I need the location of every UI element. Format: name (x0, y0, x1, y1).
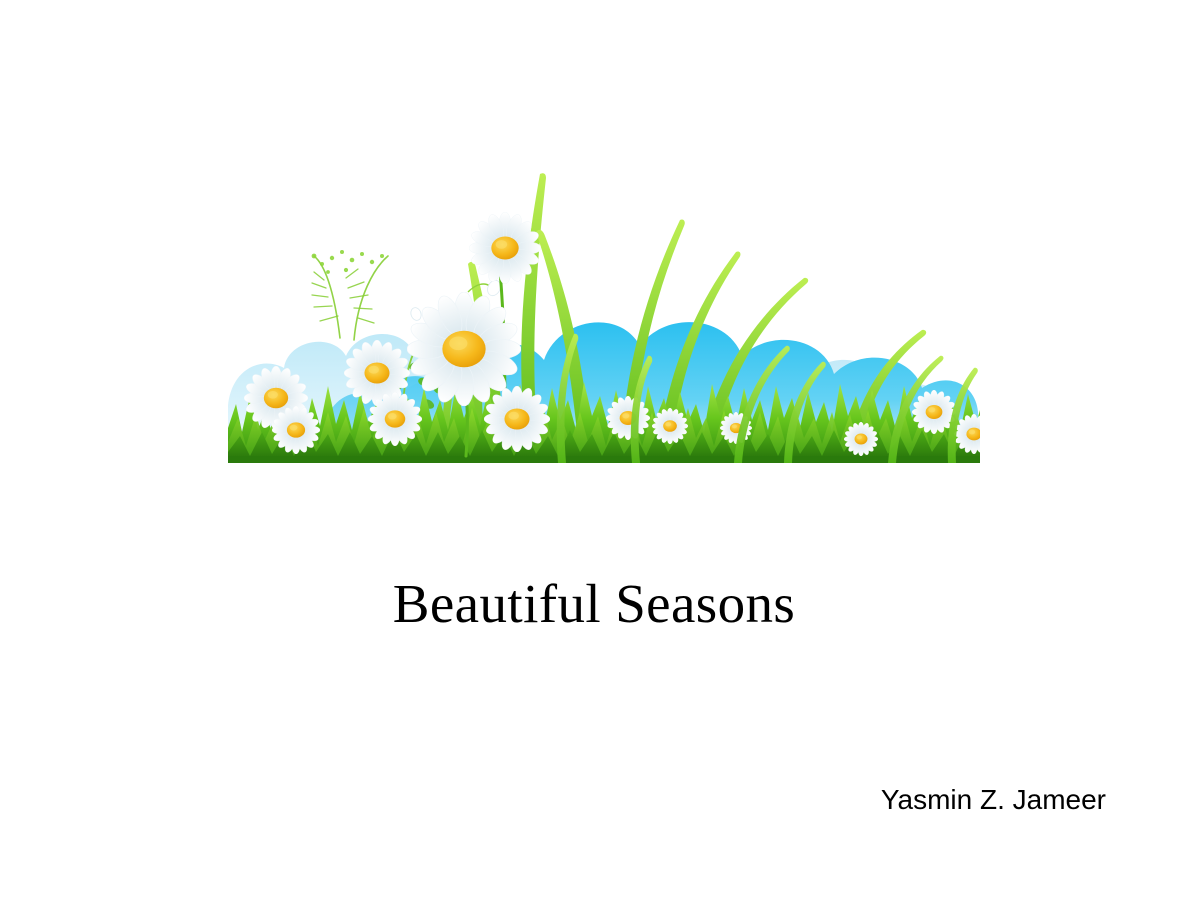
meadow-illustration (228, 160, 980, 463)
daisy-right-e (844, 422, 878, 456)
daisy-centre-low (484, 386, 550, 452)
daisy-right-d (912, 390, 956, 434)
daisy-right-a (606, 396, 650, 440)
daisy-mid-left (344, 340, 410, 406)
subtitle-placeholder: Yasmin Z. Jameer (881, 783, 1106, 817)
slide-title: Beautiful Seasons (393, 572, 795, 635)
daisy-low-left (368, 392, 422, 446)
title-placeholder: Beautiful Seasons (0, 572, 1188, 635)
daisy-right-b (652, 408, 688, 444)
daisy-far-left-b (272, 406, 320, 454)
daisy-upper (469, 212, 541, 284)
slide-canvas: Beautiful Seasons Yasmin Z. Jameer (0, 0, 1188, 918)
author-name: Yasmin Z. Jameer (881, 783, 1106, 817)
